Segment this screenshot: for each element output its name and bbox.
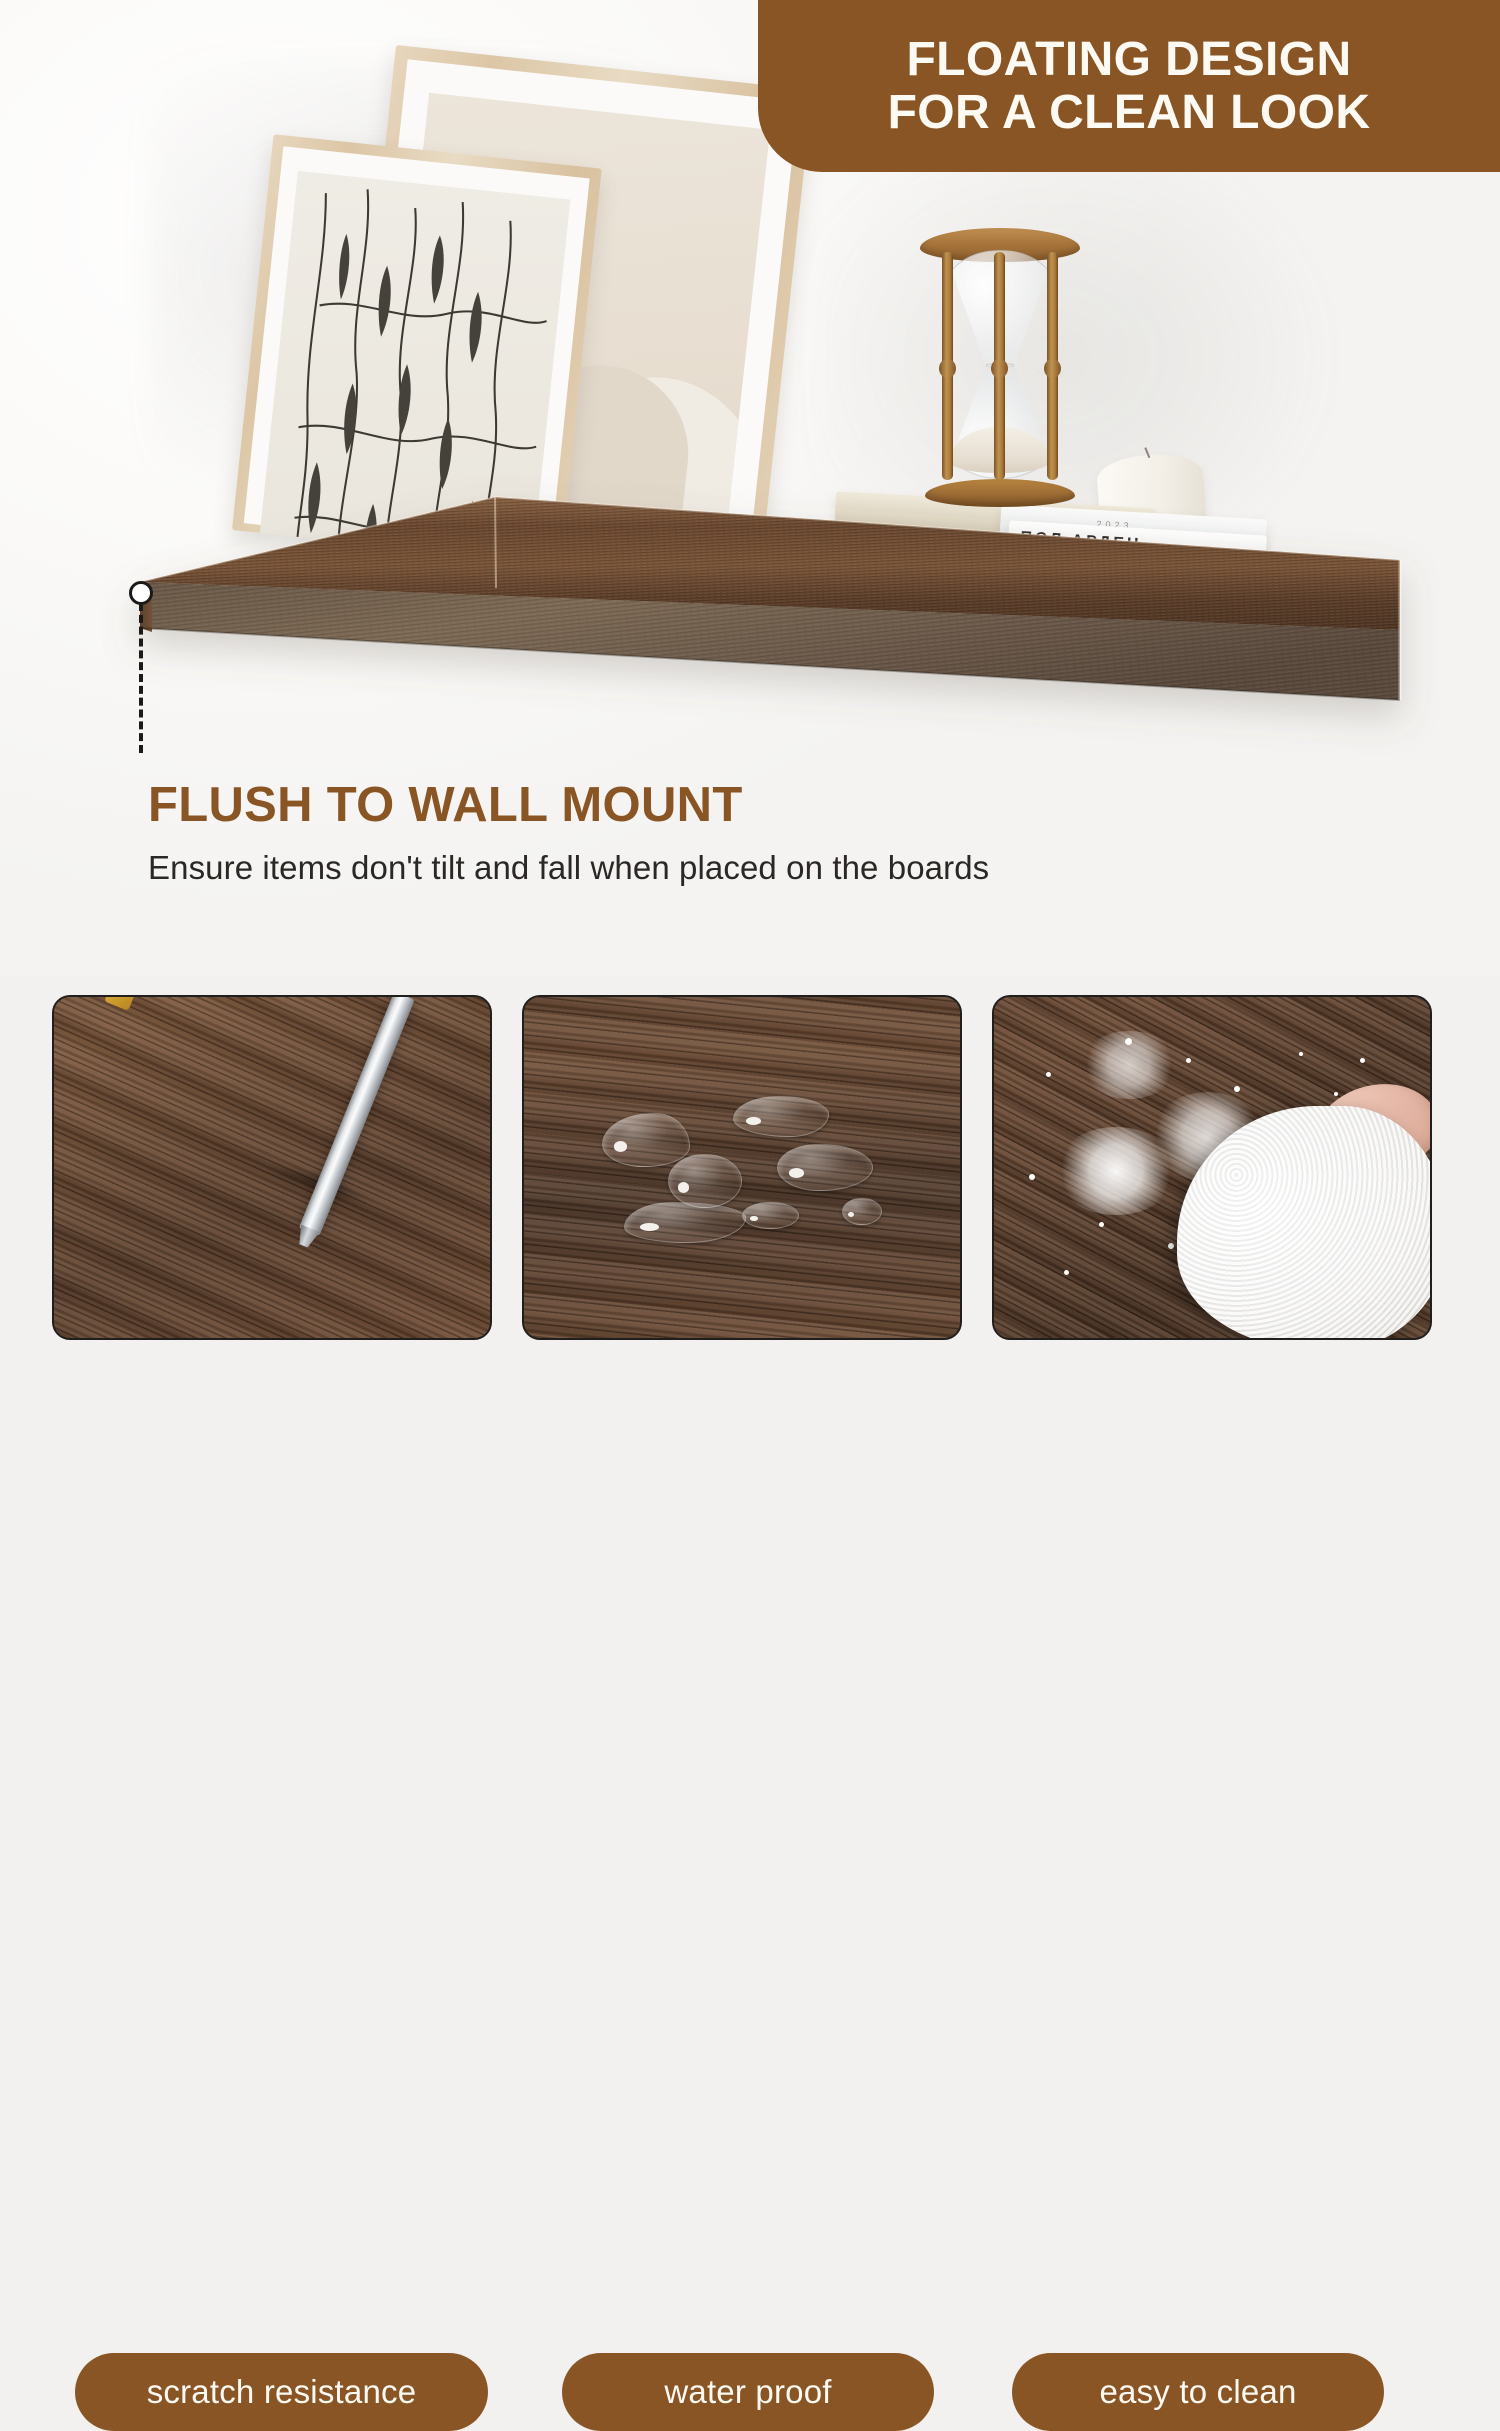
hourglass-post [942, 252, 953, 480]
droplet-glint [678, 1182, 690, 1193]
scratch-resistance-image [52, 995, 492, 1340]
small-art-frame [232, 134, 602, 564]
water-proof-image [522, 995, 962, 1340]
droplet-glint [789, 1168, 804, 1177]
powder-speck [1064, 1270, 1069, 1275]
water-droplet [742, 1202, 799, 1229]
callout-dashed-line [139, 603, 143, 753]
hourglass [920, 228, 1080, 503]
water-droplet [842, 1198, 881, 1225]
hero-caption-block: FLUSH TO WALL MOUNT Ensure items don't t… [148, 780, 989, 887]
hourglass-post [1047, 252, 1058, 480]
droplet-glint [746, 1117, 761, 1125]
feature-panel-water-proof [522, 995, 962, 1340]
powder-speck [1099, 1222, 1104, 1227]
powder-speck [1234, 1086, 1240, 1092]
feature-panel-easy-to-clean [992, 995, 1432, 1340]
hourglass-bottom-cap [925, 479, 1075, 507]
banner-line-1: FLOATING DESIGN [906, 33, 1351, 86]
water-droplet [733, 1096, 829, 1137]
book-spine-author: ПОЛ АРДЕН [1020, 529, 1142, 554]
hourglass-post [994, 252, 1005, 480]
wall-shadow-right [820, 120, 1340, 550]
hero-caption-subtitle: Ensure items don't tilt and fall when pl… [148, 849, 989, 887]
hero-section: 2023 ПОЛ АРДЕН УРОКИ СТИЛЯ [0, 0, 1500, 975]
banner-line-2: FOR A CLEAN LOOK [888, 86, 1371, 139]
floating-design-banner: FLOATING DESIGN FOR A CLEAN LOOK [758, 0, 1500, 172]
powder-speck [1168, 1243, 1174, 1249]
frame-artwork-line-sketch [260, 171, 571, 562]
droplet-glint [848, 1212, 854, 1217]
feature-label-easy-to-clean: easy to clean [1012, 2353, 1384, 2431]
feature-label-water-proof: water proof [562, 2353, 934, 2431]
feature-panel-scratch-resistance [52, 995, 492, 1340]
water-droplet [668, 1154, 742, 1209]
feature-panels-section: scratch resistance water proof easy to c… [0, 975, 1500, 1500]
droplet-glint [614, 1141, 628, 1152]
powder-speck [1125, 1038, 1132, 1045]
droplet-glint [640, 1223, 659, 1231]
line-sketch-svg [260, 171, 571, 562]
droplet-glint [750, 1216, 759, 1221]
feature-label-scratch-resistance: scratch resistance [75, 2353, 488, 2431]
powder-speck [1299, 1052, 1303, 1056]
easy-to-clean-image [992, 995, 1432, 1340]
flush-mount-marker-icon [129, 581, 153, 605]
hero-caption-title: FLUSH TO WALL MOUNT [148, 780, 989, 831]
wood-grain-texture [522, 995, 962, 1340]
